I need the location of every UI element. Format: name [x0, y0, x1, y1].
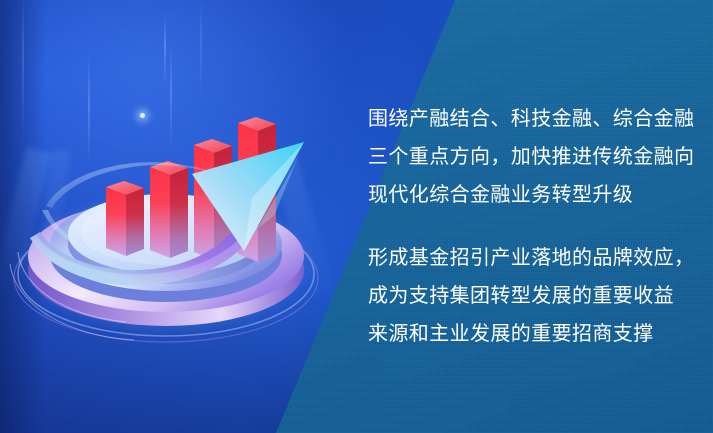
- paragraph-2-line-3: 来源和主业发展的重要招商支撑: [368, 315, 688, 353]
- paragraph-2-line-2: 成为支持集团转型发展的重要收益: [368, 277, 688, 315]
- growth-chart-illustration: [6, 78, 326, 348]
- paragraph-1: 围绕产融结合、科技金融、综合金融 三个重点方向，加快推进传统金融向 现代化综合金…: [368, 100, 688, 214]
- light-streak-3: [164, 15, 166, 85]
- bar-1: [106, 179, 144, 256]
- bar-2: [150, 161, 188, 258]
- paragraph-1-line-2: 三个重点方向，加快推进传统金融向: [368, 138, 688, 176]
- copy-block: 围绕产融结合、科技金融、综合金融 三个重点方向，加快推进传统金融向 现代化综合金…: [368, 100, 688, 353]
- paragraph-2: 形成基金招引产业落地的品牌效应， 成为支持集团转型发展的重要收益 来源和主业发展…: [368, 239, 688, 353]
- paragraph-1-line-1: 围绕产融结合、科技金融、综合金融: [368, 100, 688, 138]
- paragraph-1-line-3: 现代化综合金融业务转型升级: [368, 176, 688, 214]
- paragraph-2-line-1: 形成基金招引产业落地的品牌效应，: [368, 239, 688, 277]
- financial-strategy-banner: 围绕产融结合、科技金融、综合金融 三个重点方向，加快推进传统金融向 现代化综合金…: [0, 0, 713, 433]
